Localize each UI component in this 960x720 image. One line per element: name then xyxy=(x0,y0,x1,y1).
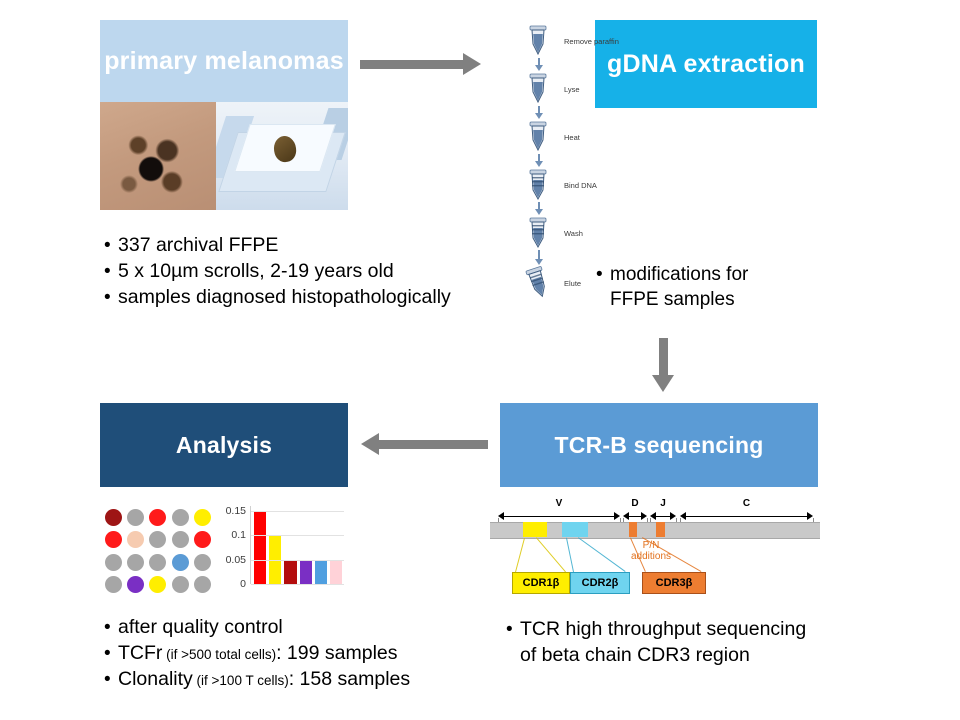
segment-label-c: C xyxy=(743,498,750,509)
tube-icon xyxy=(518,266,558,300)
protocol-arrow-icon xyxy=(538,106,540,114)
matrix-dot xyxy=(194,531,211,548)
segment-label-v: V xyxy=(556,498,563,509)
list-item-text: TCFr (if >500 total cells): 199 samples xyxy=(118,640,398,666)
matrix-dot xyxy=(127,576,144,593)
gridline xyxy=(251,560,344,561)
protocol-arrow-icon xyxy=(538,202,540,210)
matrix-dot xyxy=(105,554,122,571)
matrix-dot xyxy=(127,554,144,571)
list-item: •337 archival FFPE xyxy=(104,232,504,258)
segment-label-d: D xyxy=(631,498,638,509)
tube-icon xyxy=(518,24,558,58)
list-item-continuation: FFPE samples xyxy=(596,287,811,312)
extraction-step-6: Elute xyxy=(518,266,581,300)
workflow-diagram: primary melanomas gDNA extraction Remove… xyxy=(0,0,960,720)
bar-chart-bars xyxy=(254,506,342,584)
extraction-step-2: Lyse xyxy=(518,72,580,106)
matrix-dot xyxy=(149,531,166,548)
extraction-step-label: Heat xyxy=(564,133,580,142)
modifications-bullet-list: •modifications for FFPE samples xyxy=(596,262,811,313)
list-item-text: Clonality (if >100 T cells): 158 samples xyxy=(118,666,410,692)
analysis-bullet-list: •after quality control•TCFr (if >500 tot… xyxy=(104,614,504,692)
matrix-dot xyxy=(105,576,122,593)
list-item-text: after quality control xyxy=(118,614,283,640)
protocol-arrow-icon xyxy=(538,154,540,162)
primary-melanomas-box: primary melanomas xyxy=(100,20,348,102)
gdna-extraction-label: gDNA extraction xyxy=(607,50,805,79)
d-block xyxy=(629,522,637,537)
cdr-leader-line xyxy=(515,538,525,572)
bullet-icon: • xyxy=(104,618,118,637)
bar-chart-y-axis: 00.050.10.15 xyxy=(216,506,248,584)
extraction-step-5: Wash xyxy=(518,216,583,250)
bar xyxy=(330,560,342,584)
segment-label-j: J xyxy=(660,498,666,509)
sample-photos xyxy=(100,102,348,210)
segment-span-j xyxy=(650,512,676,520)
tcr-b-sequencing-label: TCR-B sequencing xyxy=(555,432,764,459)
extraction-step-label: Elute xyxy=(564,279,581,288)
bar xyxy=(254,511,266,584)
matrix-dot xyxy=(149,509,166,526)
melanoma-lesion-photo xyxy=(100,102,216,210)
y-tick-label: 0.05 xyxy=(226,554,246,566)
y-tick-label: 0 xyxy=(240,578,246,590)
bar-chart-plot-area xyxy=(250,506,344,584)
matrix-dot xyxy=(194,509,211,526)
gdna-extraction-box: gDNA extraction xyxy=(595,20,817,108)
bar xyxy=(300,560,312,584)
tube-icon xyxy=(518,72,558,106)
extraction-step-label: Remove paraffin xyxy=(564,37,619,46)
primary-melanomas-label: primary melanomas xyxy=(104,47,344,76)
analysis-box: Analysis xyxy=(100,403,348,487)
j-block xyxy=(656,522,665,537)
list-item: •after quality control xyxy=(104,614,504,640)
tcr-sequencing-bullet-list: •TCR high throughput sequencing of beta … xyxy=(506,616,866,668)
y-tick-label: 0.15 xyxy=(226,505,246,517)
matrix-dot xyxy=(172,509,189,526)
segment-span-c xyxy=(680,512,813,520)
bar xyxy=(315,560,327,584)
bar xyxy=(284,560,296,584)
cdr-box-3: CDR3β xyxy=(642,572,706,594)
matrix-dot xyxy=(172,576,189,593)
tube-icon xyxy=(518,216,558,250)
matrix-dot xyxy=(127,509,144,526)
tube-icon xyxy=(518,168,558,202)
protocol-arrow-icon xyxy=(538,250,540,260)
cdr-box-2: CDR2β xyxy=(570,572,630,594)
matrix-dot xyxy=(105,531,122,548)
matrix-dot xyxy=(149,576,166,593)
samples-bullet-list: •337 archival FFPE •5 x 10µm scrolls, 2-… xyxy=(104,232,504,310)
segment-span-v xyxy=(498,512,620,520)
tcr-b-sequencing-box: TCR-B sequencing xyxy=(500,403,818,487)
cdr-box-1: CDR1β xyxy=(512,572,570,594)
matrix-dot xyxy=(172,531,189,548)
arrow-primary-to-gdna-icon xyxy=(360,60,464,69)
gridline xyxy=(251,584,344,585)
matrix-dot xyxy=(105,509,122,526)
list-item-qualifier: (if >500 total cells) xyxy=(162,647,276,662)
matrix-dot xyxy=(149,554,166,571)
cdr-leader-line xyxy=(536,537,566,572)
list-item-continuation: of beta chain CDR3 region xyxy=(506,642,866,668)
extraction-step-label: Lyse xyxy=(564,85,580,94)
list-item: •5 x 10µm scrolls, 2-19 years old xyxy=(104,258,504,284)
extraction-step-3: Heat xyxy=(518,120,580,154)
protocol-arrow-icon xyxy=(538,58,540,66)
cdr2-block xyxy=(562,522,588,537)
matrix-dot xyxy=(194,576,211,593)
gridline xyxy=(251,535,344,536)
list-item: •modifications for xyxy=(596,262,811,287)
list-item: •Clonality (if >100 T cells): 158 sample… xyxy=(104,666,504,692)
segment-span-d xyxy=(623,512,647,520)
gridline xyxy=(251,511,344,512)
list-item-qualifier: (if >100 T cells) xyxy=(193,673,289,688)
ffpe-paraffin-block-photo xyxy=(216,102,348,210)
matrix-dot xyxy=(127,531,144,548)
analysis-label: Analysis xyxy=(176,432,272,459)
cdr1-block xyxy=(523,522,547,537)
arrow-tcr-to-analysis-icon xyxy=(378,440,488,449)
arrow-gdna-to-tcr-icon xyxy=(659,338,668,376)
matrix-dot xyxy=(194,554,211,571)
extraction-step-4: Bind DNA xyxy=(518,168,597,202)
y-tick-label: 0.1 xyxy=(231,529,246,541)
bullet-icon: • xyxy=(104,644,118,663)
clonotype-dot-matrix xyxy=(104,508,212,594)
tcr-locus-diagram: VDJCP/NadditionsCDR1βCDR2βCDR3β xyxy=(490,498,820,598)
extraction-step-label: Wash xyxy=(564,229,583,238)
bullet-icon: • xyxy=(104,670,118,689)
list-item: •TCFr (if >500 total cells): 199 samples xyxy=(104,640,504,666)
extraction-step-label: Bind DNA xyxy=(564,181,597,190)
list-item: •TCR high throughput sequencing xyxy=(506,616,866,642)
clonotype-frequency-bar-chart: 00.050.10.15 xyxy=(216,506,344,598)
matrix-dot xyxy=(172,554,189,571)
cdr-leader-line xyxy=(566,538,574,572)
tube-icon xyxy=(518,120,558,154)
extraction-step-1: Remove paraffin xyxy=(518,24,619,58)
list-item: •samples diagnosed histopathologically xyxy=(104,284,504,310)
